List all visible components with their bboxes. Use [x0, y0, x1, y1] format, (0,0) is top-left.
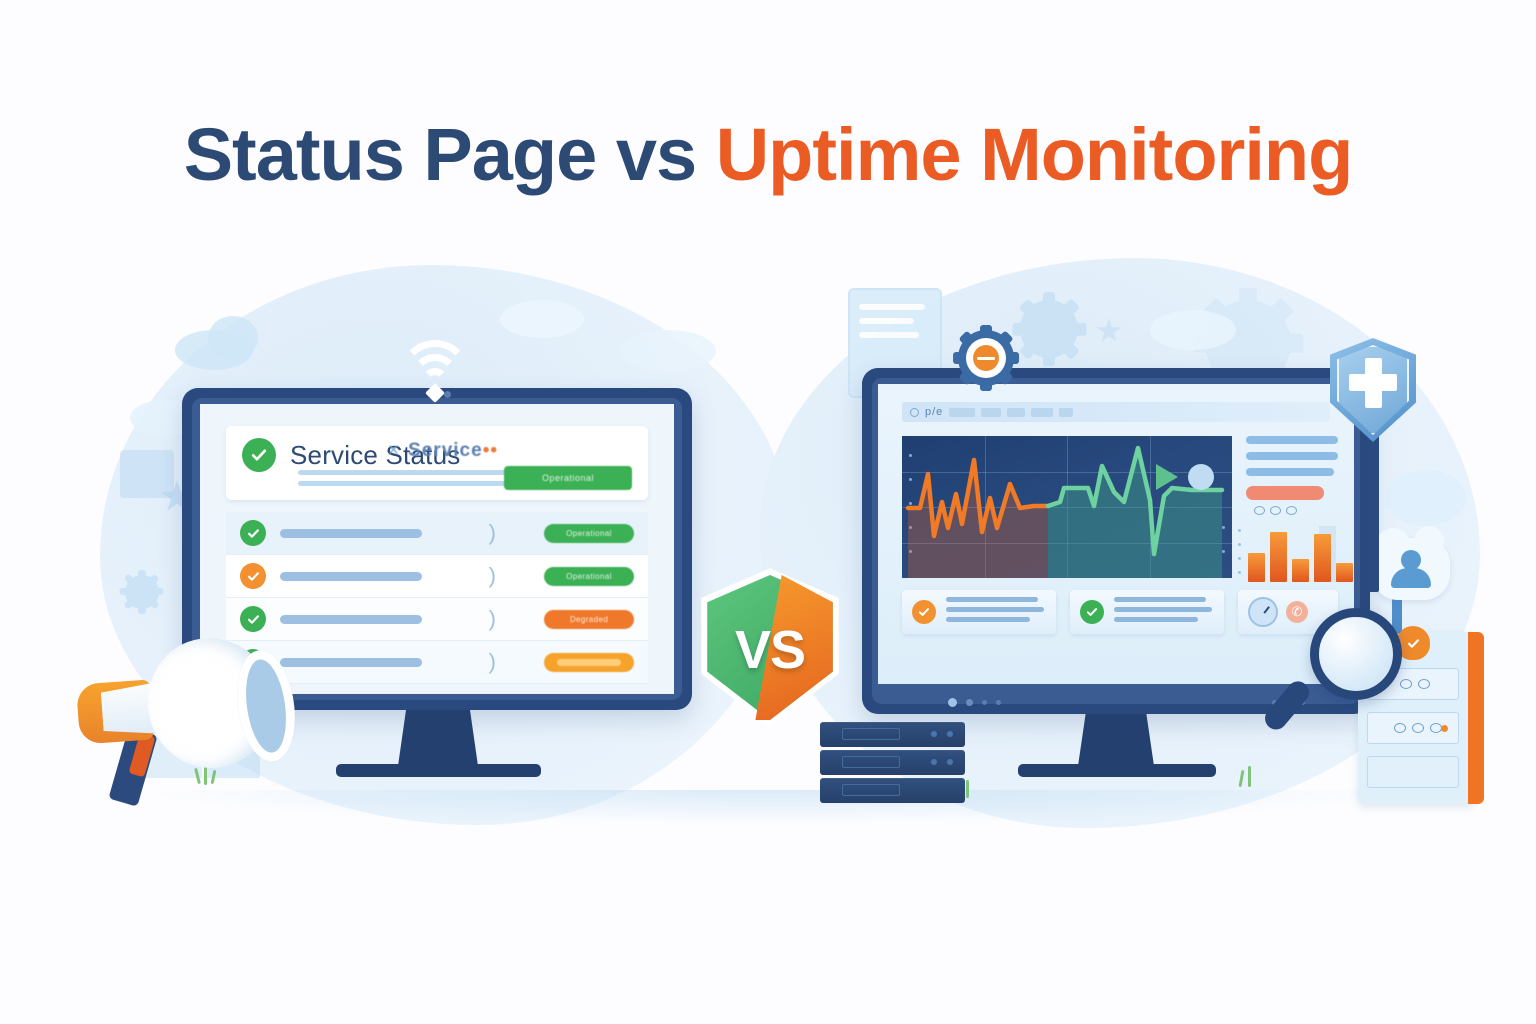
- row-marker: ): [489, 520, 496, 546]
- card-text-lines: [1114, 597, 1214, 627]
- shield-health-icon: [1330, 338, 1416, 442]
- service-status-header: Service Status ×Service•• Operational: [226, 426, 648, 500]
- gear-icon: [125, 575, 159, 609]
- page-title: Status Page vs Uptime Monitoring: [0, 118, 1536, 192]
- magnifying-glass-icon: [1288, 608, 1408, 738]
- decorative-square: [120, 450, 174, 498]
- status-badge[interactable]: Operational: [544, 567, 634, 586]
- status-badge[interactable]: Degraded: [544, 610, 634, 629]
- check-circle-icon: [240, 520, 266, 546]
- gear-icon: [1020, 300, 1078, 358]
- check-circle-icon: [1080, 600, 1104, 624]
- row-marker: ): [489, 606, 496, 632]
- row-marker: ): [489, 563, 496, 589]
- gear-badge-icon: [958, 330, 1014, 386]
- vs-label: VS: [690, 565, 850, 730]
- header-status-badge[interactable]: Operational: [504, 466, 632, 490]
- chart-side-panel: [1246, 436, 1338, 520]
- megaphone-icon: [60, 630, 310, 820]
- indicator-circles: [1254, 502, 1302, 520]
- check-circle-icon: [912, 600, 936, 624]
- cloud-icon: [500, 300, 584, 338]
- monitor-stand-base: [336, 764, 541, 777]
- url-text: p/e: [925, 406, 943, 418]
- cloud-icon: [1386, 470, 1466, 526]
- status-badge[interactable]: [1246, 486, 1324, 500]
- vs-badge: VS: [690, 565, 850, 730]
- monitor-stand-base: [1018, 764, 1216, 777]
- brand-name: Service: [408, 440, 483, 461]
- status-badge[interactable]: [544, 653, 634, 672]
- user-avatar-icon: [1372, 538, 1450, 600]
- monitor-stand-neck: [1078, 714, 1154, 766]
- status-dot: [1188, 464, 1214, 490]
- bar-chart: [1246, 524, 1338, 582]
- grass-blade: [1248, 766, 1251, 787]
- status-badge[interactable]: Operational: [544, 524, 634, 543]
- info-card[interactable]: [1070, 590, 1224, 634]
- ground-shadow: [150, 790, 1390, 824]
- wifi-icon: [395, 340, 475, 402]
- brand-logo: ×Service••: [388, 440, 498, 462]
- brand-suffix: ••: [483, 440, 498, 461]
- chart-plot-area: [902, 436, 1232, 578]
- circle-icon: [910, 408, 919, 417]
- cloud-icon: [208, 316, 258, 360]
- brand-x-mark: ×: [388, 440, 400, 461]
- illustration-canvas: Status Page vs Uptime Monitoring: [0, 0, 1536, 1024]
- card-text-lines: [946, 597, 1046, 627]
- table-row[interactable]: ) Operational: [226, 512, 648, 555]
- check-circle-icon: [240, 606, 266, 632]
- cloud-icon: [620, 330, 716, 372]
- check-circle-icon: [242, 438, 276, 472]
- page-title-navy: Status Page vs: [184, 113, 696, 196]
- speedometer-icon: [1248, 597, 1278, 627]
- check-circle-icon: [240, 563, 266, 589]
- server-stack-icon: [820, 722, 970, 804]
- uptime-monitoring-screen: p/e: [878, 384, 1354, 684]
- page-title-orange: Uptime Monitoring: [716, 113, 1353, 196]
- browser-url-bar[interactable]: p/e: [902, 402, 1330, 422]
- info-card[interactable]: [902, 590, 1056, 634]
- cloud-icon: [1150, 310, 1236, 350]
- table-row[interactable]: ) Operational: [226, 555, 648, 598]
- play-triangle-icon[interactable]: [1156, 464, 1178, 490]
- response-time-chart: [902, 436, 1232, 578]
- row-marker: ): [489, 649, 496, 675]
- monitor-stand-neck: [398, 710, 478, 766]
